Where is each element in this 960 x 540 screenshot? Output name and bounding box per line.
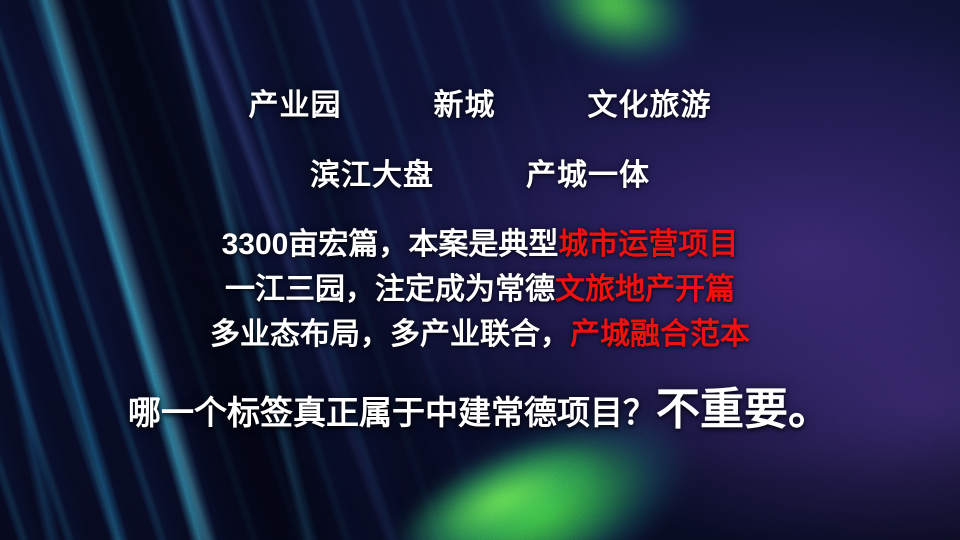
body-line-3: 多业态布局，多产业联合，产城融合范本 [0, 312, 960, 357]
kicker-question: 哪一个标签真正属于中建常德项目？ [128, 394, 656, 431]
tag-riverside-project: 滨江大盘 [310, 150, 434, 194]
slide-content: 产业园 新城 文化旅游 滨江大盘 产城一体 3300亩宏篇，本案是典型城市运营项… [0, 0, 960, 540]
body-line-2: 一江三园，注定成为常德文旅地产开篇 [0, 267, 960, 312]
body-line-2-red: 文旅地产开篇 [555, 273, 735, 306]
body-line-1: 3300亩宏篇，本案是典型城市运营项目 [0, 222, 960, 267]
tag-row-primary: 产业园 新城 文化旅游 [0, 80, 960, 124]
tag-row-secondary: 滨江大盘 产城一体 [0, 150, 960, 194]
body-text-block: 3300亩宏篇，本案是典型城市运营项目 一江三园，注定成为常德文旅地产开篇 多业… [0, 222, 960, 357]
slide-canvas: 产业园 新城 文化旅游 滨江大盘 产城一体 3300亩宏篇，本案是典型城市运营项… [0, 0, 960, 540]
body-line-1-red: 城市运营项目 [558, 228, 738, 261]
body-line-2-white: 一江三园，注定成为常德 [225, 273, 555, 306]
body-line-3-white: 多业态布局，多产业联合， [210, 318, 570, 351]
tag-industrial-park: 产业园 [249, 80, 342, 124]
tag-new-city: 新城 [434, 80, 496, 124]
tag-culture-tourism: 文化旅游 [588, 80, 712, 124]
kicker-line: 哪一个标签真正属于中建常德项目？不重要。 [0, 373, 960, 437]
tag-city-industry-integration: 产城一体 [526, 150, 650, 194]
kicker-answer: 不重要。 [656, 385, 832, 434]
body-line-1-white: 3300亩宏篇，本案是典型 [222, 228, 559, 261]
body-line-3-red: 产城融合范本 [570, 318, 750, 351]
